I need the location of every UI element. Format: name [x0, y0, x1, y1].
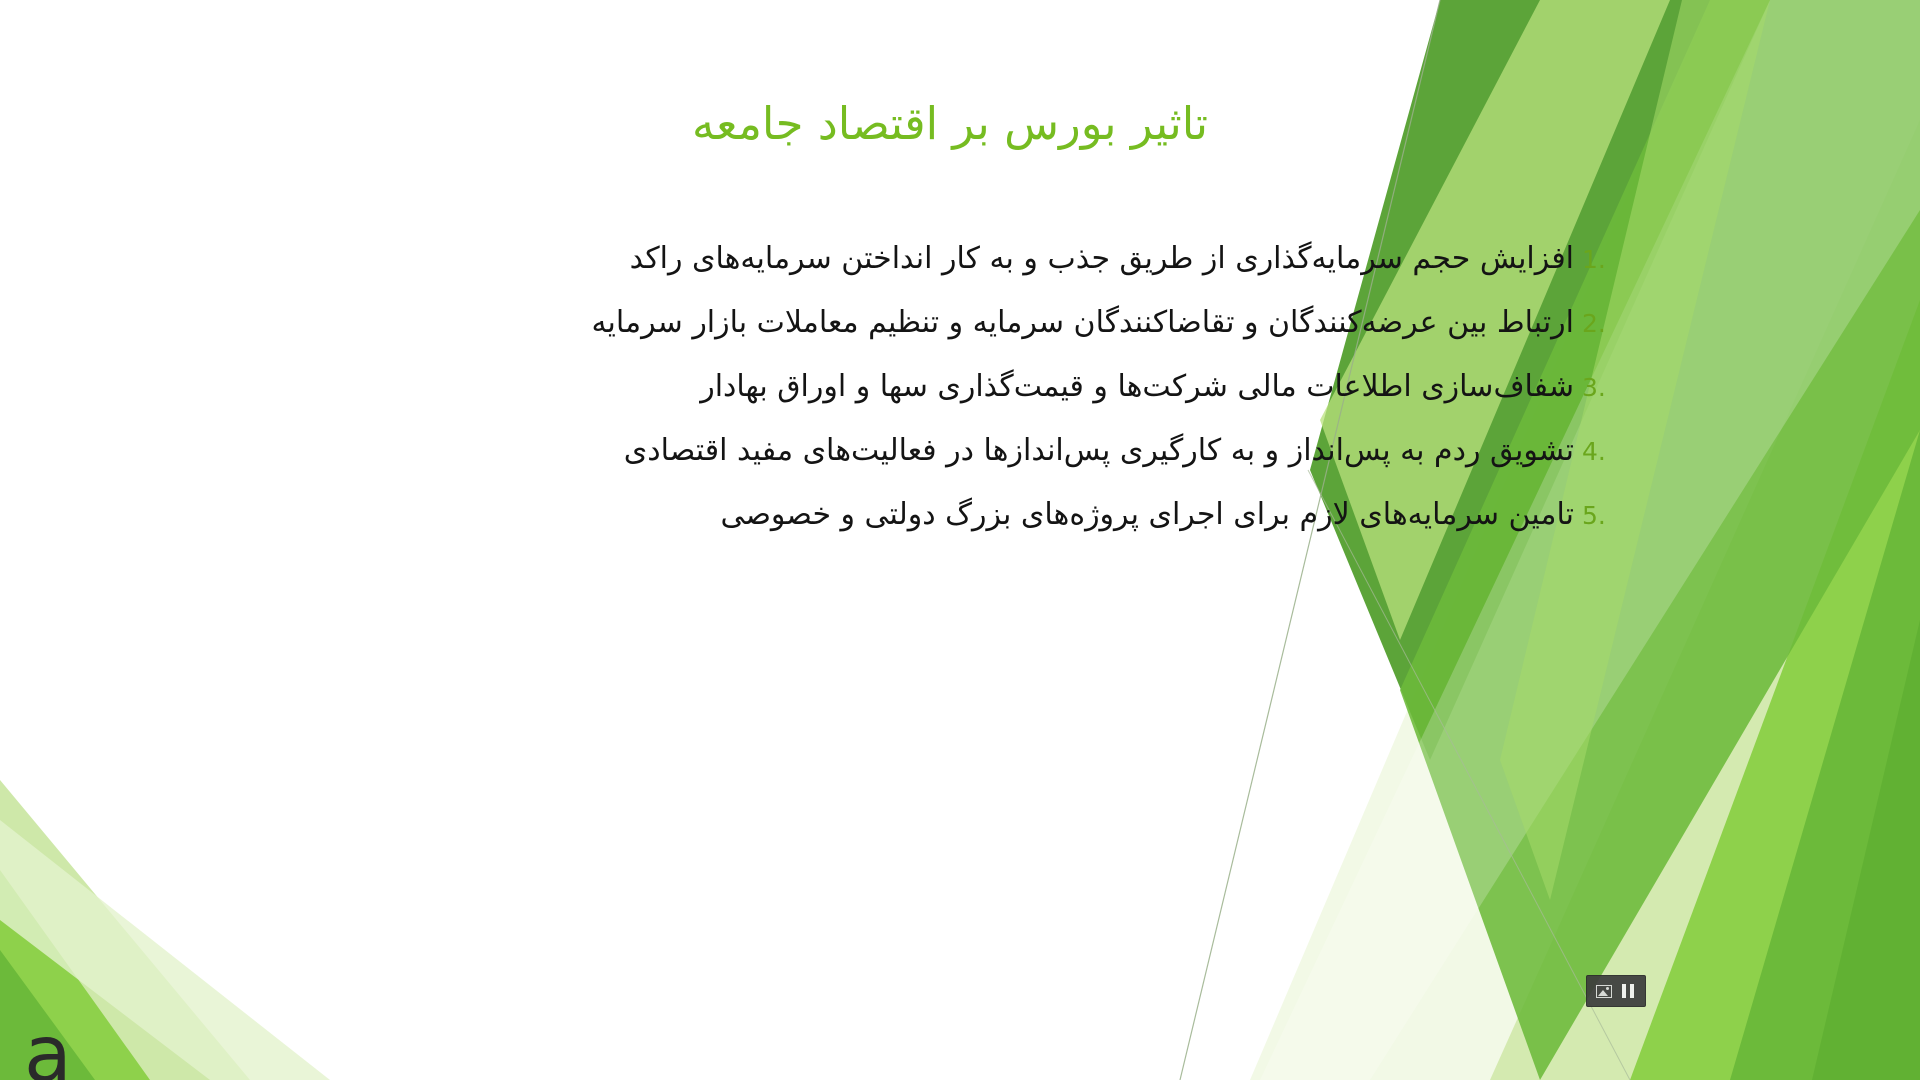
pause-icon	[1622, 984, 1634, 998]
list-item-number: 3.	[1574, 375, 1630, 400]
screenshot-button[interactable]	[1594, 981, 1614, 1001]
list-item-text: تشویق ردم به پس‌انداز و به کارگیری پس‌ان…	[460, 436, 1574, 466]
list-item-text: تامین سرمایه‌های لازم برای اجرای پروژه‌ه…	[460, 500, 1574, 530]
list-item-number: 4.	[1574, 439, 1630, 464]
list-item: 3. شفاف‌سازی اطلاعات مالی شرکت‌ها و قیمت…	[460, 372, 1630, 436]
playback-controls[interactable]	[1586, 975, 1646, 1007]
list-item-text: افزایش حجم سرمایه‌گذاری از طریق جذب و به…	[460, 244, 1574, 274]
list-item-number: 5.	[1574, 503, 1630, 528]
numbered-list: 1. افزایش حجم سرمایه‌گذاری از طریق جذب و…	[460, 244, 1630, 564]
list-item: 1. افزایش حجم سرمایه‌گذاری از طریق جذب و…	[460, 244, 1630, 308]
list-item: 4. تشویق ردم به پس‌انداز و به کارگیری پس…	[460, 436, 1630, 500]
corner-watermark: a	[24, 1016, 72, 1080]
slide-content: تاثیر بورس بر اقتصاد جامعه 1. افزایش حجم…	[0, 0, 1920, 1080]
picture-icon	[1596, 985, 1612, 998]
list-item-number: 1.	[1574, 247, 1630, 272]
list-item-text: شفاف‌سازی اطلاعات مالی شرکت‌ها و قیمت‌گذ…	[460, 372, 1574, 402]
list-item-number: 2.	[1574, 311, 1630, 336]
presentation-slide: تاثیر بورس بر اقتصاد جامعه 1. افزایش حجم…	[0, 0, 1920, 1080]
pause-button[interactable]	[1618, 981, 1638, 1001]
page-title: تاثیر بورس بر اقتصاد جامعه	[450, 96, 1450, 152]
list-item: 5. تامین سرمایه‌های لازم برای اجرای پروژ…	[460, 500, 1630, 564]
list-item: 2. ارتباط بین عرضه‌کنندگان و تقاضاکنندگا…	[460, 308, 1630, 372]
list-item-text: ارتباط بین عرضه‌کنندگان و تقاضاکنندگان س…	[460, 308, 1574, 338]
